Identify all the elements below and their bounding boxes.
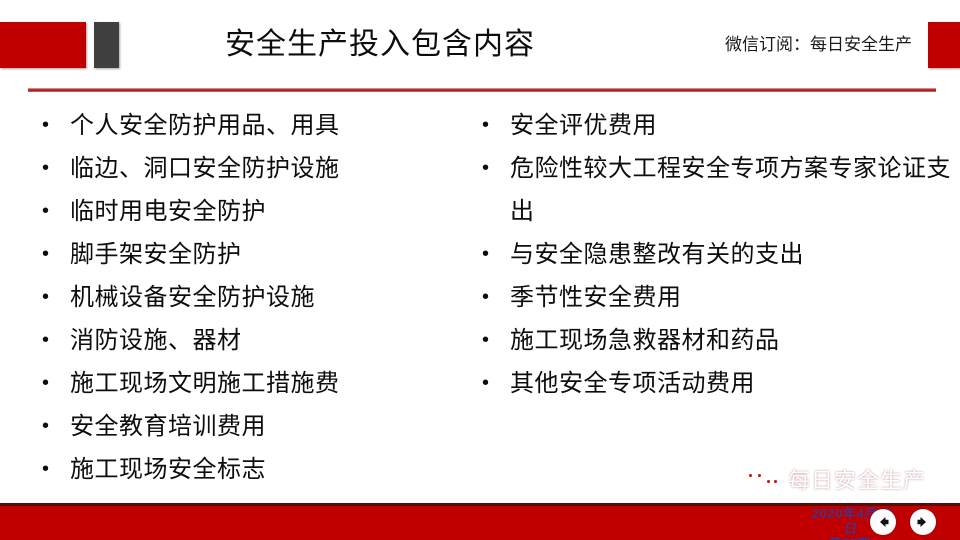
- list-item: 临边、洞口安全防护设施: [30, 147, 460, 190]
- right-column: 安全评优费用 危险性较大工程安全专项方案专家论证支出 与安全隐患整改有关的支出 …: [460, 104, 960, 405]
- header-decor-red-right-block: [928, 22, 960, 68]
- list-item: 消防设施、器材: [30, 319, 460, 362]
- list-item: 安全评优费用: [470, 104, 960, 147]
- list-item: 施工现场文明施工措施费: [30, 362, 460, 405]
- arrow-left-icon: [876, 515, 890, 529]
- arrow-right-icon: [916, 515, 930, 529]
- left-bullet-list: 个人安全防护用品、用具 临边、洞口安全防护设施 临时用电安全防护 脚手架安全防护…: [30, 104, 460, 491]
- wechat-brand: 每日安全生产: [742, 466, 926, 496]
- list-item: 安全教育培训费用: [30, 405, 460, 448]
- list-item: 施工现场急救器材和药品: [470, 319, 960, 362]
- slide-subtitle-attribution: 微信订阅：每日安全生产: [725, 33, 912, 57]
- wechat-account-name: 每日安全生产: [788, 466, 926, 496]
- header-divider-line: [28, 88, 936, 92]
- list-item: 脚手架安全防护: [30, 233, 460, 276]
- left-column: 个人安全防护用品、用具 临边、洞口安全防护设施 临时用电安全防护 脚手架安全防护…: [0, 104, 460, 491]
- content-columns: 个人安全防护用品、用具 临边、洞口安全防护设施 临时用电安全防护 脚手架安全防护…: [0, 104, 960, 504]
- watermark-issue-number: 第77期: [804, 536, 896, 540]
- next-slide-button[interactable]: [910, 509, 936, 535]
- list-item: 临时用电安全防护: [30, 190, 460, 233]
- right-bullet-list: 安全评优费用 危险性较大工程安全专项方案专家论证支出 与安全隐患整改有关的支出 …: [470, 104, 960, 405]
- previous-slide-button[interactable]: [870, 509, 896, 535]
- list-item: 个人安全防护用品、用具: [30, 104, 460, 147]
- header-decor-red-left-block: [0, 22, 86, 68]
- list-item: 其他安全专项活动费用: [470, 362, 960, 405]
- list-item: 施工现场安全标志: [30, 448, 460, 491]
- navigation-buttons: [870, 509, 936, 535]
- list-item: 与安全隐患整改有关的支出: [470, 233, 960, 276]
- list-item: 机械设备安全防护设施: [30, 276, 460, 319]
- slide-title: 安全生产投入包含内容: [150, 26, 610, 64]
- list-item: 危险性较大工程安全专项方案专家论证支出: [470, 147, 960, 233]
- header-decor-gray-block: [94, 22, 119, 68]
- slide-canvas: 安全生产投入包含内容 微信订阅：每日安全生产 个人安全防护用品、用具 临边、洞口…: [0, 0, 960, 540]
- list-item: 季节性安全费用: [470, 276, 960, 319]
- wechat-icon: [742, 466, 782, 496]
